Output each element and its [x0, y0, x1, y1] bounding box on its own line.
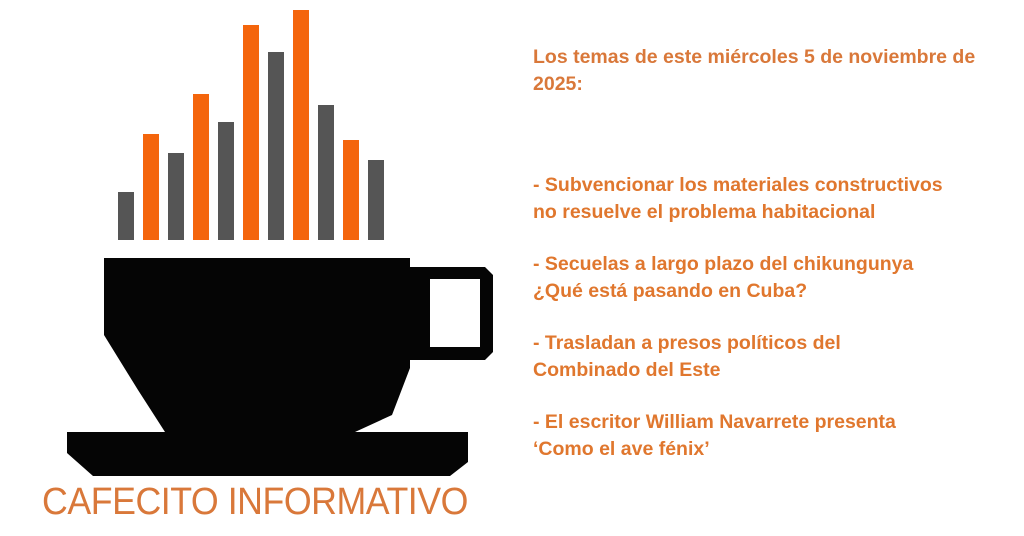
logo-wordmark: CAFECITO INFORMATIVO [15, 481, 494, 524]
cup-handle-hole [430, 279, 480, 347]
bar-chart-bar [368, 160, 384, 240]
agenda-topic-item: - El escritor William Navarrete presenta… [533, 409, 1021, 463]
bar-chart-bar [118, 192, 134, 240]
cup-saucer-shape [67, 432, 468, 476]
bar-chart-bar [168, 153, 184, 240]
bar-chart [118, 0, 403, 240]
bar-chart-bar [218, 122, 234, 240]
agenda-topic-item: - Trasladan a presos políticos del Combi… [533, 330, 1021, 384]
agenda-topic-item: - Subvencionar los materiales constructi… [533, 172, 1021, 226]
agenda-topic-list: - Subvencionar los materiales constructi… [533, 172, 1021, 463]
agenda-headline: Los temas de este miércoles 5 de noviemb… [533, 44, 1013, 98]
agenda-topic-item: - Secuelas a largo plazo del chikungunya… [533, 251, 1021, 305]
cup-body-shape [104, 258, 454, 432]
bar-chart-bar [318, 105, 334, 240]
bar-chart-bar [293, 10, 309, 240]
bar-chart-bar [143, 134, 159, 240]
bar-chart-bar [193, 94, 209, 240]
bar-chart-bar [268, 52, 284, 240]
bar-chart-bar [243, 25, 259, 240]
coffee-cup-svg [55, 250, 505, 490]
coffee-cup-icon [55, 250, 505, 490]
bar-chart-bar [343, 140, 359, 240]
agenda-text-column: Los temas de este miércoles 5 de noviemb… [533, 0, 1024, 536]
cafecito-logo-block: CAFECITO INFORMATIVO [0, 0, 510, 536]
poster-canvas: CAFECITO INFORMATIVO Los temas de este m… [0, 0, 1024, 536]
